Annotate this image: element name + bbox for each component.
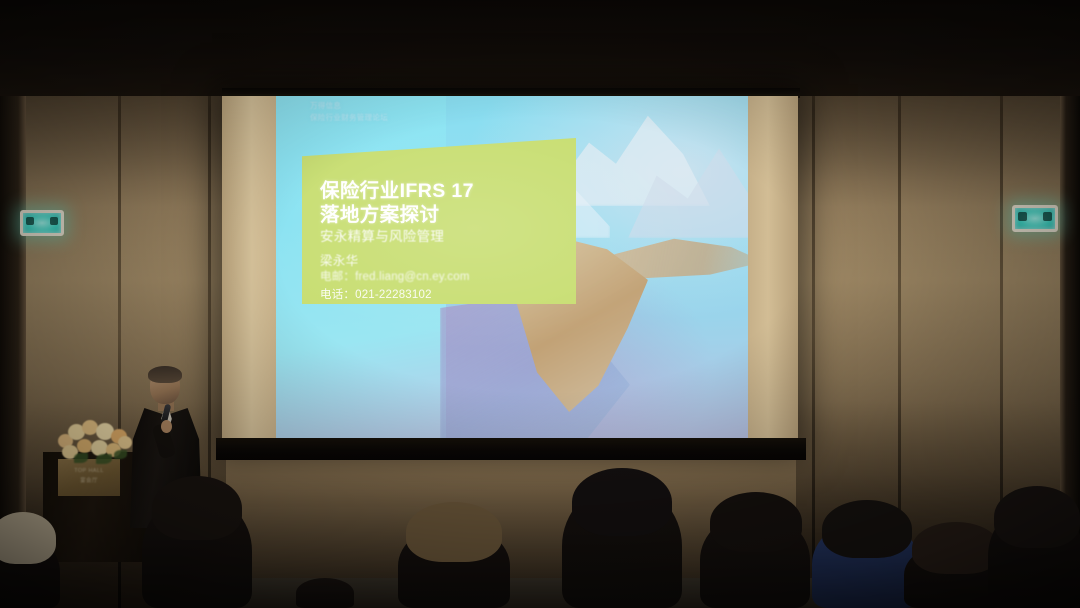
speaker-hand	[161, 420, 172, 433]
podium-plaque: TOP HALL 宴会厅	[58, 459, 120, 496]
flower-arrangement	[56, 418, 134, 462]
audience-member-hair	[572, 468, 672, 536]
emergency-exit-sign-left	[20, 210, 64, 236]
podium-plaque-line2: 宴会厅	[58, 476, 120, 486]
ceiling-valance	[0, 0, 1080, 96]
speaker-hair	[148, 366, 182, 383]
podium-plaque-text: TOP HALL 宴会厅	[58, 459, 120, 496]
audience-member-hair	[406, 502, 502, 562]
podium-plaque-line1: TOP HALL	[58, 466, 120, 476]
conference-photo-scene: 万得信息 保险行业财务管理论坛 保险行业IFRS 17 落地方案探讨 安永精算与…	[0, 0, 1080, 608]
audience-member-hair	[912, 522, 1000, 574]
audience-member-hair	[0, 512, 56, 564]
slide-subtitle: 安永精算与风险管理	[320, 228, 570, 246]
audience-member-hair	[822, 500, 912, 558]
slide-presenter-name: 梁永华	[320, 250, 570, 269]
slide-header: 万得信息 保险行业财务管理论坛	[310, 100, 520, 123]
slide-header-line2: 保险行业财务管理论坛	[310, 112, 520, 124]
emergency-exit-sign-right	[1012, 205, 1058, 232]
audience-member-hair	[152, 476, 242, 540]
audience-member-hair	[994, 486, 1080, 548]
slide-title-line2: 落地方案探讨	[320, 204, 566, 228]
screen-right-margin	[748, 96, 798, 444]
slide-email: 电邮：fred.liang@cn.ey.com	[320, 268, 600, 284]
audience-member-hair	[710, 492, 802, 552]
audience-member	[296, 578, 354, 608]
slide-title: 保险行业IFRS 17 落地方案探讨	[320, 180, 566, 228]
slide-header-line1: 万得信息	[310, 100, 520, 112]
slide-phone: 电话：021-22283102	[320, 286, 600, 302]
screen-bottom-bar	[216, 438, 806, 460]
screen-left-margin	[222, 96, 276, 444]
slide-title-line1: 保险行业IFRS 17	[320, 180, 566, 204]
projection-screen: 万得信息 保险行业财务管理论坛 保险行业IFRS 17 落地方案探讨 安永精算与…	[222, 94, 797, 446]
projected-slide: 万得信息 保险行业财务管理论坛 保险行业IFRS 17 落地方案探讨 安永精算与…	[276, 96, 748, 444]
